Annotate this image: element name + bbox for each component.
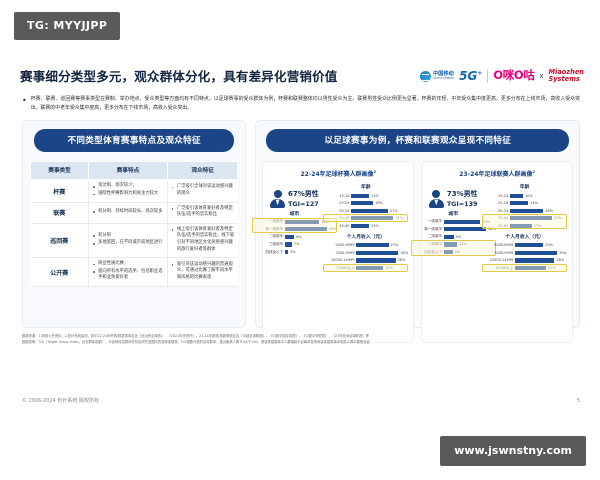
chart-bar-value: 30%	[559, 251, 567, 255]
list-item: 面向所有水平的选手，包括职业选手和业余爱好者	[91, 269, 165, 282]
list-item: 国际性杯赛影响力和关注力较大	[91, 191, 165, 198]
chart-bar	[444, 227, 486, 231]
chart-bar	[510, 209, 543, 213]
list-item: 积分制、持续时间较长、场次较多	[91, 209, 165, 216]
mini-bar-chart: 年龄19-2413%25-2916%30-3427%35-4431%45-651…	[323, 183, 408, 229]
chart-bar	[515, 266, 546, 270]
chart-bar	[510, 201, 528, 205]
chart-bar	[351, 194, 369, 198]
chart-bar	[356, 266, 383, 270]
chart-bar	[444, 242, 457, 246]
copyright-text: © 2006-2024 秒针系统 版权所有	[22, 397, 99, 404]
gender-summary: 67%男性TGI=127城市一线城市34%新一线城市42%二线城市9%三线城市7…	[268, 183, 320, 275]
chart-bar-label: 35-44	[482, 216, 508, 220]
chart-bar-label: 一线城市	[252, 219, 283, 224]
china-mobile-label-en: China Mobile	[433, 77, 454, 80]
chart-bar-row: 30-3426%	[482, 208, 567, 214]
summary-bullet: • 杯赛、联赛、巡回赛等赛事类型在赛制、举办地点、受众类型等方面均有不同特点。以…	[10, 92, 590, 113]
chart-bar-value: 17%	[534, 224, 542, 228]
chart-bar-row: 10000-1499928%	[482, 257, 567, 263]
chart-bar-label: 二线城市	[252, 234, 283, 239]
chart-bar	[444, 235, 454, 239]
right-panel: 以足球赛事为例，杯赛和联赛观众呈现不同特征 22-24年足球杯赛人群画像267%…	[255, 120, 580, 328]
list-item: 积分制	[91, 233, 165, 240]
cell-audience-features: 吸引对该运动感兴趣的普通观众，可通过比赛了解不同水平和风格的比赛表现	[167, 258, 238, 287]
chart-bar-value: 33%	[554, 216, 562, 220]
chart-bar	[515, 243, 543, 247]
event-table-card: 不同类型体育赛事特点及观众特征 赛事类型 赛事特点 观众特征 杯赛淘汰制、场次较…	[22, 120, 246, 328]
list-item: 线上吸引该体育爱好者及特定队伍/选手的忠实粉丝，线下吸引对不同地区文化风俗感兴趣…	[170, 227, 236, 253]
chart-bar-row: 30-3427%	[323, 208, 408, 214]
chart-bar-label: 45-65	[323, 224, 349, 228]
event-types-table: 赛事类型 赛事特点 观众特征 杯赛淘汰制、场次较少；国际性杯赛影响力和关注力较大…	[30, 161, 238, 287]
cell-event-type: 公开赛	[31, 258, 89, 287]
avatar-person-icon	[429, 190, 444, 208]
chart-bar-row: 15000以上22%	[482, 265, 567, 271]
chart-bar-row: 25-2914%	[482, 200, 567, 206]
chart-bar-label: 19-24	[482, 194, 508, 198]
table-row: 公开赛商业性质比赛；面向所有水平的选手，包括职业选手和业余爱好者吸引对该运动感兴…	[31, 258, 238, 287]
chart-bar-label: 15000以上	[482, 266, 513, 271]
chart-bar-label: 四线及以下	[252, 250, 283, 255]
chart-bar-row: 35-4431%	[323, 215, 408, 221]
gender-tgi: TGI=127	[288, 200, 319, 210]
bullet-dot-icon: •	[22, 95, 27, 113]
chart-bar-row: 25-2916%	[323, 200, 408, 206]
five-g-logo: 5G+	[459, 70, 482, 82]
avatar-head	[274, 190, 282, 198]
chart-bar-row: 19-2410%	[482, 192, 567, 198]
chart-bar-area: 9%	[444, 235, 496, 239]
col-header-features: 赛事特点	[89, 162, 168, 180]
profile-card-title-sup: 2	[374, 170, 377, 174]
avatar-head	[432, 190, 440, 198]
cell-audience-features: 广泛吸引该体育爱好者及特定队伍/选手的忠实粉丝	[167, 202, 238, 223]
chart-bar	[351, 201, 373, 205]
chart-bar	[285, 242, 292, 246]
chart-bar-value: 23%	[391, 243, 399, 247]
chart-bar-area: 23%	[356, 243, 408, 247]
chart-bar-row: 二线城市9%	[411, 234, 496, 240]
logo-divider	[487, 70, 488, 83]
gender-percent: 67%男性	[288, 189, 319, 200]
china-mobile-logo: 中国移动 China Mobile	[420, 71, 454, 82]
chart-bar-area: 14%	[510, 201, 567, 205]
left-panel-title: 不同类型体育赛事特点及观众特征	[34, 129, 234, 152]
chart-bar	[444, 250, 453, 254]
chart-bar-label: 15000以上	[323, 266, 354, 271]
cell-event-type: 巡回赛	[31, 223, 89, 257]
gender-percent: 73%男性	[447, 189, 478, 200]
chart-bar-area: 13%	[351, 224, 408, 228]
list-item: 吸引对该运动感兴趣的普通观众，可通过比赛了解不同水平和风格的比赛表现	[170, 262, 236, 282]
logo-x-separator: x	[539, 72, 543, 80]
chart-rows: 5000-699923%7000-999930%10000-1499928%15…	[323, 242, 408, 271]
chart-bar	[351, 209, 388, 213]
top-watermark-tag: TG: MYYJJPP	[14, 12, 120, 40]
cell-event-features: 积分制多地巡回，在不同城市或地区进行	[89, 223, 168, 257]
col-header-audience: 观众特征	[167, 162, 238, 180]
chart-bar-row: 5000-699923%	[323, 242, 408, 248]
chart-bar-label: 30-34	[323, 209, 349, 213]
chart-bar	[510, 224, 532, 228]
chart-bar	[285, 227, 327, 231]
chart-bar-label: 7000-9999	[482, 251, 513, 255]
chart-bar-label: 7000-9999	[323, 251, 354, 255]
avatar-block: 73%男性TGI=139	[429, 189, 478, 209]
chart-bar-area: 31%	[351, 216, 408, 220]
chart-bar	[356, 251, 398, 255]
cell-event-features: 淘汰制、场次较少；国际性杯赛影响力和关注力较大	[89, 180, 168, 202]
gender-text: 67%男性TGI=127	[288, 189, 319, 209]
chart-bar-label: 30-34	[482, 209, 508, 213]
chart-bar-area: 16%	[351, 201, 408, 205]
avatar-person-icon	[270, 190, 285, 208]
chart-bar	[285, 235, 294, 239]
china-mobile-icon	[420, 71, 431, 82]
left-panel: 不同类型体育赛事特点及观众特征 赛事类型 赛事特点 观众特征 杯赛淘汰制、场次较…	[22, 120, 246, 328]
col-header-type: 赛事类型	[31, 162, 89, 180]
mini-bar-chart: 年龄19-2410%25-2914%30-3426%35-4433%45-651…	[482, 183, 567, 229]
chart-bar-value: 13%	[371, 224, 379, 228]
chart-bar-area: 9%	[285, 235, 337, 239]
cell-event-features: 积分制、持续时间较长、场次较多	[89, 202, 168, 223]
table-header-row: 赛事类型 赛事特点 观众特征	[31, 162, 238, 180]
chart-bar	[356, 258, 395, 262]
gender-text: 73%男性TGI=139	[447, 189, 478, 209]
chart-rows: 19-2413%25-2916%30-3427%35-4431%45-6513%	[323, 192, 408, 229]
chart-bar-row: 7000-999930%	[482, 250, 567, 256]
chart-bar-area: 20%	[515, 243, 567, 247]
chart-bar-value: 3%	[290, 250, 296, 254]
chart-title: 年龄	[323, 183, 408, 190]
chart-bar-row: 45-6517%	[482, 223, 567, 229]
chart-bar	[285, 220, 319, 224]
chart-bar-value: 30%	[400, 251, 408, 255]
cell-event-type: 联赛	[31, 202, 89, 223]
chart-bar-area: 30%	[515, 251, 567, 255]
profile-card-body: 67%男性TGI=127城市一线城市34%新一线城市42%二线城市9%三线城市7…	[268, 183, 408, 275]
chart-bar-label: 三线城市	[252, 242, 283, 247]
chart-bar-area: 26%	[510, 209, 567, 213]
chart-bar-label: 25-29	[482, 201, 508, 205]
chart-bar-area: 28%	[515, 258, 567, 262]
table-row: 联赛积分制、持续时间较长、场次较多广泛吸引该体育爱好者及特定队伍/选手的忠实粉丝	[31, 202, 238, 223]
chart-bar-value: 28%	[556, 258, 564, 262]
gender-summary: 73%男性TGI=139城市一线城市33%新一线城市38%二线城市9%三线城市1…	[427, 183, 479, 275]
panels-row: 不同类型体育赛事特点及观众特征 赛事类型 赛事特点 观众特征 杯赛淘汰制、场次较…	[10, 113, 590, 328]
chart-bar-row: 10000-1499928%	[323, 257, 408, 263]
bottom-watermark-tag: www.jswnstny.com	[440, 436, 586, 466]
chart-bar-row: 5000-699920%	[482, 242, 567, 248]
chart-bar-value: 27%	[390, 209, 398, 213]
chart-bar-row: 7000-999930%	[323, 250, 408, 256]
cell-event-type: 杯赛	[31, 180, 89, 202]
chart-bar-area: 17%	[510, 224, 567, 228]
slide-footer: © 2006-2024 秒针系统 版权所有 5	[22, 397, 580, 404]
list-item: 广泛吸引全球对该运动感兴趣的观众	[170, 184, 236, 197]
chart-bar-value: 31%	[395, 216, 403, 220]
migu-logo: O咪O咕	[493, 70, 534, 82]
list-item: 广泛吸引该体育爱好者及特定队伍/选手的忠实粉丝	[170, 206, 236, 219]
profile-card-title-sup: 2	[532, 170, 535, 174]
chart-bar-label: 新一线城市	[252, 227, 283, 232]
chart-bar-row: 15000以上19%	[323, 265, 408, 271]
avatar-block: 67%男性TGI=127	[270, 189, 319, 209]
chart-bar-label: 三线城市	[411, 242, 442, 247]
profile-cards-container: 以足球赛事为例，杯赛和联赛观众呈现不同特征 22-24年足球杯赛人群画像267%…	[255, 120, 580, 328]
chart-bar-label: 19-24	[323, 194, 349, 198]
chart-bar-area: 30%	[356, 251, 408, 255]
right-panel-title: 以足球赛事为例，杯赛和联赛观众呈现不同特征	[266, 129, 569, 152]
chart-bar-label: 10000-14999	[482, 258, 513, 262]
chart-bar-label: 5000-6999	[482, 243, 513, 247]
summary-bullet-text: 杯赛、联赛、巡回赛等赛事类型在赛制、举办地点、受众类型等方面均有不同特点。以足球…	[31, 95, 580, 113]
miaozhen-line-2: Systems	[549, 76, 585, 83]
cell-event-features: 商业性质比赛；面向所有水平的选手，包括职业选手和业余爱好者	[89, 258, 168, 287]
chart-bar-value: 26%	[545, 209, 553, 213]
chart-bar-value: 22%	[548, 266, 556, 270]
chart-bar-row: 35-4433%	[482, 215, 567, 221]
chart-bar-area: 10%	[510, 194, 567, 198]
chart-bar	[444, 220, 480, 224]
profile-card: 23-24年足球联赛人群画像273%男性TGI=139城市一线城市33%新一线城…	[421, 161, 573, 343]
chart-bar-row: 19-2413%	[323, 192, 408, 198]
chart-bar-value: 19%	[385, 266, 393, 270]
slide-body: 赛事细分类型多元，观众群体分化，具有差异化营销价值 中国移动 China Mob…	[10, 66, 590, 406]
profile-card-title: 23-24年足球联赛人群画像2	[427, 169, 567, 178]
chart-bar-label: 45-65	[482, 224, 508, 228]
cell-audience-features: 线上吸引该体育爱好者及特定队伍/选手的忠实粉丝，线下吸引对不同地区文化风俗感兴趣…	[167, 223, 238, 257]
chart-title: 年龄	[482, 183, 567, 190]
chart-bar-value: 16%	[375, 201, 383, 205]
chart-bar-area: 13%	[351, 194, 408, 198]
table-row: 巡回赛积分制多地巡回，在不同城市或地区进行线上吸引该体育爱好者及特定队伍/选手的…	[31, 223, 238, 257]
chart-bar-label: 10000-14999	[323, 258, 354, 262]
profile-card-title: 22-24年足球杯赛人群画像2	[268, 169, 408, 178]
chart-bar	[510, 194, 523, 198]
profile-card: 22-24年足球杯赛人群画像267%男性TGI=127城市一线城市34%新一线城…	[262, 161, 414, 343]
chart-bar-value: 12%	[459, 242, 467, 246]
chart-bar	[515, 258, 554, 262]
miaozhen-logo: Miaozhen Systems	[549, 69, 585, 82]
chart-bar	[351, 216, 393, 220]
page-number: 5	[577, 398, 580, 404]
chart-bar-value: 14%	[530, 201, 538, 205]
list-item: 商业性质比赛；	[91, 261, 165, 268]
cell-audience-features: 广泛吸引全球对该运动感兴趣的观众	[167, 180, 238, 202]
slide-page: TG: MYYJJPP 赛事细分类型多元，观众群体分化，具有差异化营销价值 中国…	[0, 0, 600, 480]
slide-header: 赛事细分类型多元，观众群体分化，具有差异化营销价值 中国移动 China Mob…	[10, 66, 590, 92]
gender-tgi: TGI=139	[447, 200, 478, 210]
chart-bar-value: 9%	[296, 235, 302, 239]
chart-bar-area: 27%	[351, 209, 408, 213]
profile-row: 22-24年足球杯赛人群画像267%男性TGI=127城市一线城市34%新一线城…	[262, 161, 573, 343]
chart-bar-area: 28%	[356, 258, 408, 262]
chart-rows: 5000-699920%7000-999930%10000-1499928%15…	[482, 242, 567, 271]
avatar-body	[270, 199, 285, 208]
chart-bar-area: 33%	[510, 216, 567, 220]
chart-bar-label: 35-44	[323, 216, 349, 220]
chart-bar	[351, 224, 369, 228]
chart-bar-value: 8%	[455, 250, 461, 254]
chart-bar-label: 四线及以下	[411, 250, 442, 255]
chart-bar	[510, 216, 552, 220]
list-item: 淘汰制、场次较少；	[91, 183, 165, 190]
chart-bar	[515, 251, 557, 255]
chart-bar-value: 28%	[398, 258, 406, 262]
chart-bar	[356, 243, 388, 247]
chart-bar-label: 5000-6999	[323, 243, 354, 247]
table-row: 杯赛淘汰制、场次较少；国际性杯赛影响力和关注力较大广泛吸引全球对该运动感兴趣的观…	[31, 180, 238, 202]
logo-cluster: 中国移动 China Mobile 5G+ O咪O咕 x Miaozhen Sy…	[420, 66, 584, 86]
chart-bar-row: 45-6513%	[323, 223, 408, 229]
profile-card-body: 73%男性TGI=139城市一线城市33%新一线城市38%二线城市9%三线城市1…	[427, 183, 567, 275]
chart-bar-value: 20%	[545, 243, 553, 247]
table-body: 杯赛淘汰制、场次较少；国际性杯赛影响力和关注力较大广泛吸引全球对该运动感兴趣的观…	[31, 180, 238, 287]
chart-bar-value: 7%	[294, 242, 300, 246]
chart-bar-area: 22%	[515, 266, 567, 270]
chart-bar-value: 13%	[371, 194, 379, 198]
chart-bar-label: 25-29	[323, 201, 349, 205]
chart-bar-value: 10%	[525, 194, 533, 198]
chart-bar-row: 二线城市9%	[252, 234, 337, 240]
chart-bar-area: 19%	[356, 266, 408, 270]
chart-rows: 19-2410%25-2914%30-3426%35-4433%45-6517%	[482, 192, 567, 229]
chart-bar-label: 一线城市	[411, 219, 442, 224]
list-item: 多地巡回，在不同城市或地区进行	[91, 240, 165, 247]
chart-bar-label: 新一线城市	[411, 227, 442, 232]
avatar-body	[429, 199, 444, 208]
chart-bar	[285, 250, 288, 254]
chart-bar-value: 9%	[456, 235, 462, 239]
chart-bar-label: 二线城市	[411, 234, 442, 239]
